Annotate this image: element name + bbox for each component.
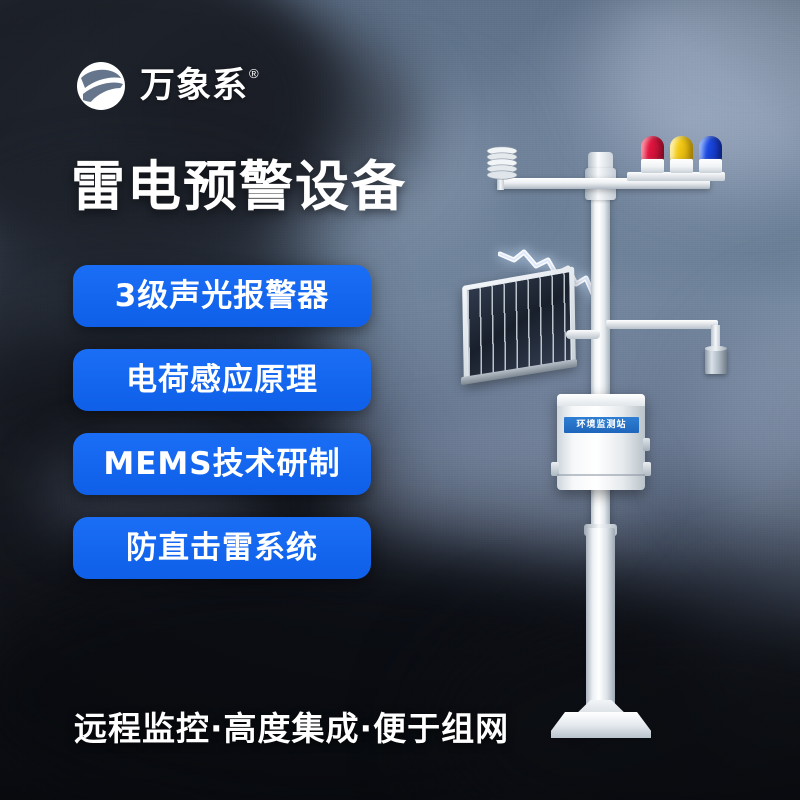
beacon-dome-yellow [670,136,693,161]
page-title: 雷电预警设备 [71,160,407,214]
enclosure-seam [557,474,645,476]
cylindrical-sensor [705,348,727,374]
alarm-beacon-yellow [670,136,693,174]
feature-badge: 3级声光报警器 [73,265,371,327]
solar-panel-mount-bracket [566,330,600,339]
alarm-beacon-red [641,136,664,174]
feature-badge: MEMS技术研制 [73,433,371,495]
swirl-sphere-logo-icon [75,60,127,112]
base-plate [551,712,651,738]
enclosure-lid [557,394,645,406]
feature-badge-label: MEMS技术研制 [103,449,340,480]
beacon-base [670,159,693,173]
feature-badge: 防直击雷系统 [73,517,371,579]
alarm-beacon-blue [699,136,722,174]
feature-badge-label: 防直击雷系统 [126,533,318,564]
brand-logo: 万象系® [75,60,259,112]
enclosure-latch [643,438,650,451]
brand-name: 万象系 [140,66,248,106]
feature-badge-label: 3级声光报警器 [115,281,330,312]
cylindrical-sensor-cap [705,346,727,351]
beacon-dome-blue [699,136,722,161]
feature-badge-label: 电荷感应原理 [126,365,318,396]
product-poster: 环境监测站 万象系® 雷电预警设备 3级声光报警器 电荷感应原理 [0,0,800,800]
footer-tagline: 远程监控·高度集成·便于组网 [74,712,509,745]
beacon-dome-red [641,136,664,161]
beacon-base [699,159,722,173]
registered-trademark-icon: ® [249,66,259,81]
enclosure-label-plate: 环境监测站 [564,417,639,433]
beacon-base [641,159,664,173]
radiation-shield-sensor-icon [482,146,522,180]
pole-lower-section [586,528,615,718]
feature-badge: 电荷感应原理 [73,349,371,411]
enclosure-label-text: 环境监测站 [576,421,626,430]
feature-badge-list: 3级声光报警器 电荷感应原理 MEMS技术研制 防直击雷系统 [73,265,371,579]
right-sensor-arm [606,320,718,329]
